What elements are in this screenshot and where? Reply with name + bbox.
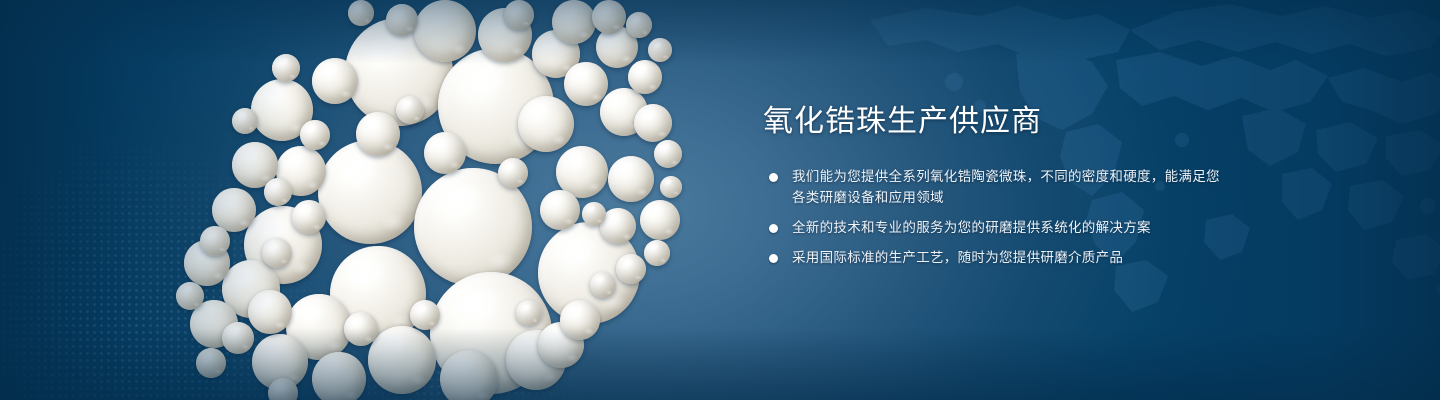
list-item-label: 全新的技术和专业的服务为您的研磨提供系统化的解决方案 [792, 217, 1233, 238]
list-item: 采用国际标准的生产工艺，随时为您提供研磨介质产品 [763, 247, 1233, 268]
list-item-label: 采用国际标准的生产工艺，随时为您提供研磨介质产品 [792, 247, 1233, 268]
hero-banner: 氧化锆珠生产供应商 我们能为您提供全系列氧化锆陶瓷微珠，不同的密度和硬度，能满足… [0, 0, 1440, 400]
bullet-dot-icon [769, 224, 778, 233]
page-title: 氧化锆珠生产供应商 [763, 104, 1233, 140]
feature-list: 我们能为您提供全系列氧化锆陶瓷微珠，不同的密度和硬度，能满足您各类研磨设备和应用… [763, 166, 1233, 268]
bullet-dot-icon [769, 254, 778, 263]
list-item: 我们能为您提供全系列氧化锆陶瓷微珠，不同的密度和硬度，能满足您各类研磨设备和应用… [763, 166, 1233, 208]
banner-content: 氧化锆珠生产供应商 我们能为您提供全系列氧化锆陶瓷微珠，不同的密度和硬度，能满足… [763, 104, 1233, 268]
bullet-dot-icon [769, 173, 778, 182]
list-item-label: 我们能为您提供全系列氧化锆陶瓷微珠，不同的密度和硬度，能满足您各类研磨设备和应用… [792, 166, 1233, 208]
list-item: 全新的技术和专业的服务为您的研磨提供系统化的解决方案 [763, 217, 1233, 238]
